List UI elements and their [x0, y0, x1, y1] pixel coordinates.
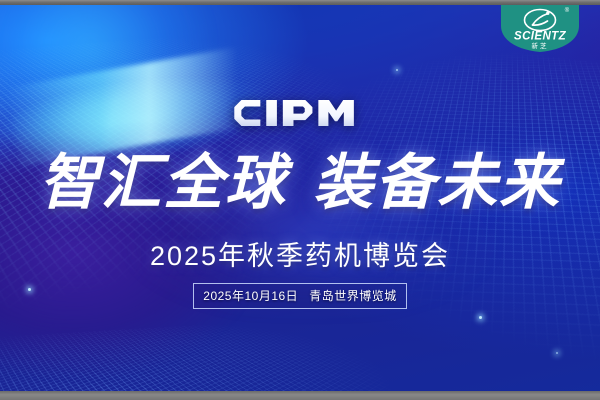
- event-venue: 青岛世界博览城: [309, 289, 397, 303]
- banner-content: SCIENTZ ® 新芝: [0, 0, 600, 400]
- info-bar-wrapper: 2025年10月16日青岛世界博览城: [0, 283, 600, 309]
- event-info-bar: 2025年10月16日青岛世界博览城: [193, 283, 406, 309]
- scientz-logo-chinese-text: 新芝: [532, 41, 549, 50]
- frame-strip-top: [0, 0, 600, 5]
- scientz-logo[interactable]: SCIENTZ ® 新芝: [501, 0, 579, 52]
- registered-trademark-mark: ®: [565, 7, 570, 14]
- scientz-logo-latin-text: SCIENTZ: [514, 31, 567, 43]
- cipm-promo-banner: SCIENTZ ® 新芝: [0, 0, 600, 400]
- frame-strip-bottom: [0, 391, 600, 400]
- event-date: 2025年10月16日: [203, 289, 298, 303]
- headline-part-2: 装备未来: [313, 148, 561, 218]
- headline: 智汇全球装备未来: [0, 152, 600, 215]
- cipm-wordmark: [0, 98, 600, 133]
- headline-part-1: 智汇全球: [39, 148, 287, 218]
- subtitle: 2025年秋季药机博览会: [0, 234, 600, 273]
